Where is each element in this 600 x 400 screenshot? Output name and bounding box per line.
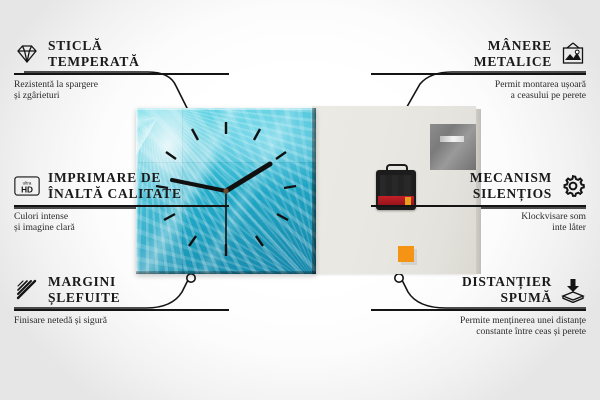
feature-header: MÂNEREMETALICE (371, 38, 586, 69)
ultra-hd-icon: ultra HD (14, 173, 40, 199)
feature-header: MARGINIȘLEFUITE (14, 274, 229, 305)
feature-header: MECANISMSILENȚIOS (371, 170, 586, 201)
feature-subtitle: Culori intenseși imagine clară (14, 211, 229, 234)
feature-silent-mechanism: MECANISMSILENȚIOS Klockvisare sominte lå… (371, 170, 586, 234)
feature-title: IMPRIMARE DEÎNALTĂ CALITATE (48, 170, 182, 201)
feature-divider (371, 309, 586, 311)
feature-subtitle: Finisare netedă și sigură (14, 315, 229, 327)
svg-text:ultra: ultra (23, 180, 32, 185)
feature-header: ultra HD IMPRIMARE DEÎNALTĂ CALITATE (14, 170, 229, 201)
feature-polished-edges: MARGINIȘLEFUITE Finisare netedă și sigur… (14, 274, 229, 326)
feature-metal-handles: MÂNEREMETALICE Permit montarea ușoarăa c… (371, 38, 586, 102)
feature-header: STICLĂTEMPERATĂ (14, 38, 229, 69)
wall-mount-frame-icon (560, 41, 586, 67)
feature-subtitle: Klockvisare sominte låter (371, 211, 586, 234)
metal-hanger-plate (430, 124, 478, 170)
feature-subtitle: Permite menținerea unei distanțeconstant… (371, 315, 586, 338)
foam-spacer-icon (560, 277, 586, 303)
feature-title: MECANISMSILENȚIOS (470, 170, 552, 201)
feature-subtitle: Rezistentă la spargereși zgârieturi (14, 79, 229, 102)
feature-divider (371, 73, 586, 75)
feature-divider (14, 73, 229, 75)
gear-icon (560, 173, 586, 199)
feature-divider (14, 205, 229, 207)
svg-text:HD: HD (21, 185, 33, 194)
foam-spacer-pad (398, 246, 414, 262)
feature-title: MARGINIȘLEFUITE (48, 274, 120, 305)
feature-title: STICLĂTEMPERATĂ (48, 38, 140, 69)
feature-divider (14, 309, 229, 311)
infographic-canvas: STICLĂTEMPERATĂ Rezistentă la spargereși… (0, 0, 600, 400)
feature-header: DISTANȚIERSPUMĂ (371, 274, 586, 305)
feature-tempered-glass: STICLĂTEMPERATĂ Rezistentă la spargereși… (14, 38, 229, 102)
feature-divider (371, 205, 586, 207)
diamond-icon (14, 41, 40, 67)
feature-high-quality-print: ultra HD IMPRIMARE DEÎNALTĂ CALITATE Cul… (14, 170, 229, 234)
polished-edges-icon (14, 277, 40, 303)
feature-subtitle: Permit montarea ușoarăa ceasului pe pere… (371, 79, 586, 102)
feature-title: DISTANȚIERSPUMĂ (462, 274, 552, 305)
feature-foam-spacer: DISTANȚIERSPUMĂ Permite menținerea unei … (371, 274, 586, 338)
feature-title: MÂNEREMETALICE (474, 38, 552, 69)
hanger-slot (440, 136, 464, 142)
hour-hand (226, 164, 270, 191)
